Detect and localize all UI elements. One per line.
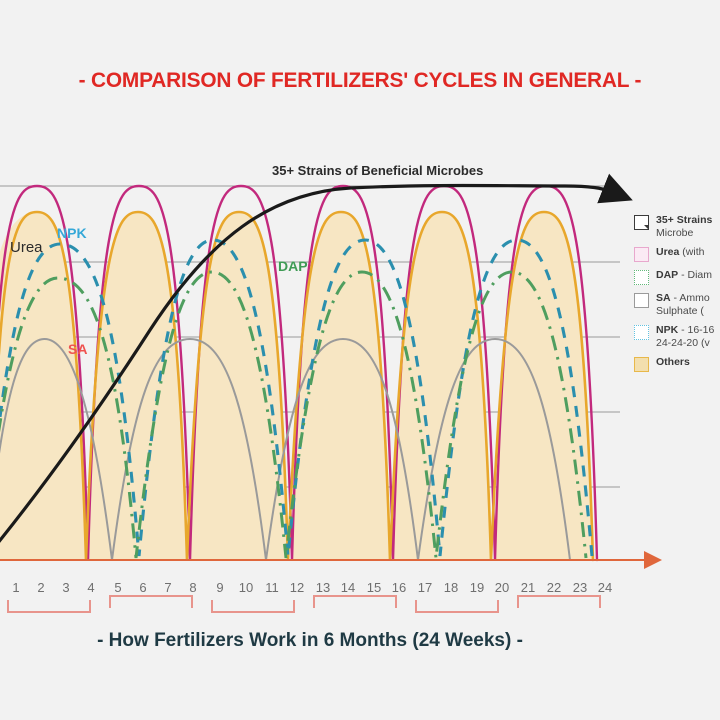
week-label: 11: [261, 580, 283, 595]
legend-item-microbe[interactable]: 35+ StrainsMicrobe: [634, 214, 720, 239]
dap-swatch-icon: [634, 270, 649, 285]
legend-item-others[interactable]: Others: [634, 356, 720, 372]
week-label: 3: [55, 580, 77, 595]
legend-item-npk[interactable]: NPK - 16-16 24-24-20 (v: [634, 324, 720, 349]
week-label: 15: [363, 580, 385, 595]
microbe-swatch-icon: [634, 215, 649, 230]
chart-caption: - How Fertilizers Work in 6 Months (24 W…: [0, 630, 620, 652]
legend-item-label: SA - Ammo Sulphate (: [656, 292, 720, 317]
week-label: 14: [337, 580, 359, 595]
fertilizer-cycle-chart: [0, 0, 720, 720]
label-urea: Urea: [10, 239, 43, 256]
week-label: 17: [414, 580, 436, 595]
urea-swatch-icon: [634, 247, 649, 262]
label-sa: SA: [68, 341, 87, 357]
week-label: 4: [80, 580, 102, 595]
week-label: 24: [594, 580, 616, 595]
week-label: 12: [286, 580, 308, 595]
week-label: 22: [543, 580, 565, 595]
week-label: 5: [107, 580, 129, 595]
week-label: 7: [157, 580, 179, 595]
week-label: 10: [235, 580, 257, 595]
week-label: 23: [569, 580, 591, 595]
label-microbes-annotation: 35+ Strains of Beneficial Microbes: [272, 163, 483, 178]
legend-item-label: Urea (with: [656, 246, 704, 259]
sa-swatch-icon: [634, 293, 649, 308]
week-label: 21: [517, 580, 539, 595]
label-npk: NPK: [57, 225, 87, 241]
x-axis-week-labels: 1 2 3 4 5 6 7 8 9 10 11 12 13 14 15 16 1…: [0, 580, 620, 600]
label-dap: DAP: [278, 258, 308, 274]
week-label: 20: [491, 580, 513, 595]
week-label: 8: [182, 580, 204, 595]
week-label: 6: [132, 580, 154, 595]
legend-item-label: DAP - Diam: [656, 269, 712, 282]
chart-legend: 35+ StrainsMicrobe Urea (with DAP - Diam…: [634, 214, 720, 379]
week-label: 18: [440, 580, 462, 595]
others-swatch-icon: [634, 357, 649, 372]
legend-item-dap[interactable]: DAP - Diam: [634, 269, 720, 285]
week-label: 16: [388, 580, 410, 595]
legend-item-label: NPK - 16-16 24-24-20 (v: [656, 324, 720, 349]
legend-item-sa[interactable]: SA - Ammo Sulphate (: [634, 292, 720, 317]
week-label: 1: [5, 580, 27, 595]
legend-item-urea[interactable]: Urea (with: [634, 246, 720, 262]
week-label: 2: [30, 580, 52, 595]
week-label: 9: [209, 580, 231, 595]
chart-page: - COMPARISON OF FERTILIZERS' CYCLES IN G…: [0, 0, 720, 720]
week-label: 13: [312, 580, 334, 595]
legend-item-label: Others: [656, 356, 690, 369]
legend-item-label: 35+ StrainsMicrobe: [656, 214, 712, 239]
week-label: 19: [466, 580, 488, 595]
npk-swatch-icon: [634, 325, 649, 340]
